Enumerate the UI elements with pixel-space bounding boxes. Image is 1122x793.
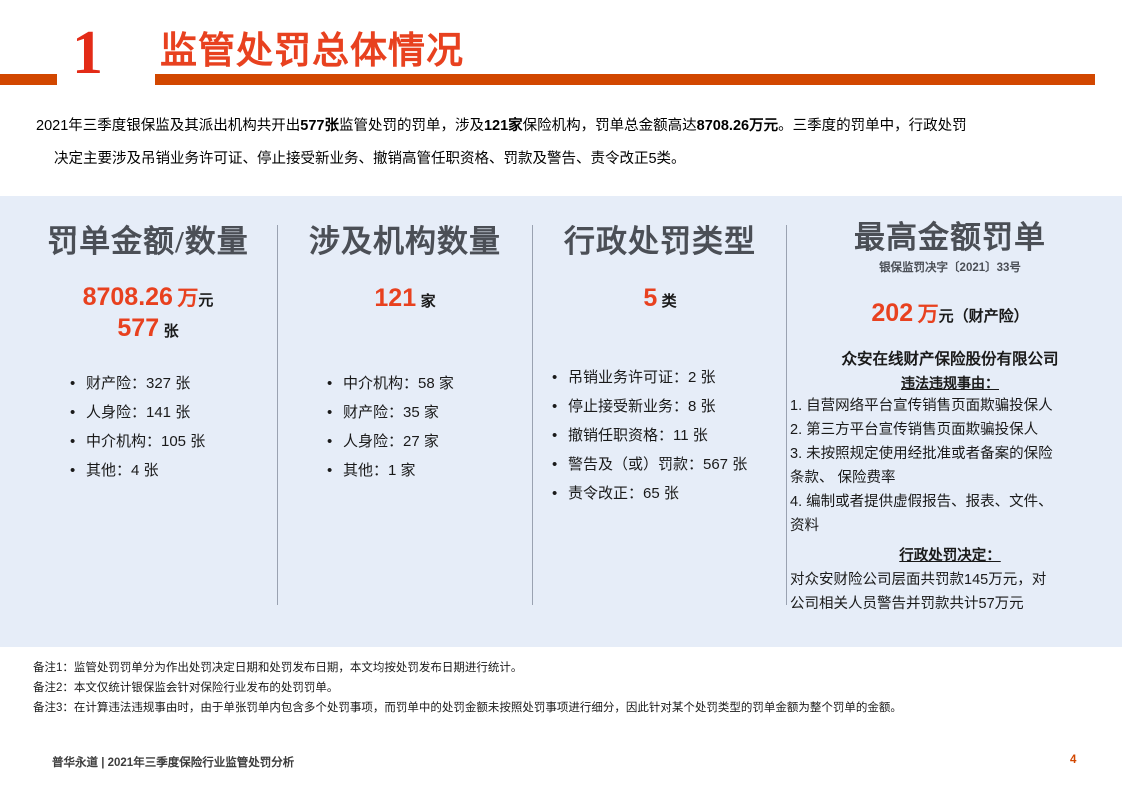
column-penalty-types: 行政处罚类型 5 类 吊销业务许可证：2 张 停止接受新业务：8 张 撤销任职资…	[536, 196, 784, 508]
stat-primary-unit-suffix: 家	[421, 293, 436, 310]
violation-item: 4. 编制或者提供虚假报告、报表、文件、	[790, 490, 1106, 514]
stat-primary-value: 202	[871, 299, 913, 327]
list-item: 吊销业务许可证：2 张	[550, 363, 784, 392]
stat-primary-unit-suffix: 元	[198, 292, 213, 309]
column-title: 行政处罚类型	[536, 224, 784, 260]
bullet-list: 财产险：327 张 人身险：141 张 中介机构：105 张 其他：4 张	[68, 369, 274, 485]
section-number: 1	[72, 22, 103, 84]
intro-seg-c: 监管处罚的罚单，涉及	[339, 118, 484, 134]
violations-list: 1. 自营网络平台宣传销售页面欺骗投保人 2. 第三方平台宣传销售页面欺骗投保人…	[790, 394, 1110, 538]
footnote-2: 备注2：本文仅统计银保监会针对保险行业发布的处罚罚单。	[33, 678, 1093, 698]
column-title: 最高金额罚单	[790, 220, 1110, 256]
list-item: 警告及（或）罚款：567 张	[550, 450, 784, 479]
stat-primary: 121 家	[281, 284, 529, 313]
violation-item: 3. 未按照规定使用经批准或者备案的保险	[790, 442, 1106, 466]
stat-primary: 8708.26 万元	[22, 282, 274, 312]
stat-primary: 5 类	[536, 284, 784, 313]
list-item: 其他：4 张	[68, 456, 274, 485]
column-fine-amount-count: 罚单金额/数量 8708.26 万元 577 张 财产险：327 张 人身险：1…	[22, 196, 274, 485]
list-item: 财产险：35 家	[325, 398, 529, 427]
decision-line: 公司相关人员警告并罚款共计57万元	[790, 592, 1110, 616]
stat-primary-unit-suffix: 类	[662, 293, 677, 310]
violation-item: 2. 第三方平台宣传销售页面欺骗投保人	[790, 418, 1106, 442]
stat-primary-unit-suffix: 元（财产险）	[939, 308, 1029, 325]
header-rule-right	[155, 74, 1095, 85]
intro-bold-amount: 8708.26万元	[697, 118, 778, 134]
list-item: 财产险：327 张	[68, 369, 274, 398]
stat-secondary: 577 张	[22, 314, 274, 343]
decision-text: 对众安财险公司层面共罚款145万元，对 公司相关人员警告并罚款共计57万元	[790, 568, 1110, 616]
list-item: 人身险：141 张	[68, 398, 274, 427]
list-item: 人身险：27 家	[325, 427, 529, 456]
column-divider-3	[786, 225, 787, 605]
stat-secondary-value: 577	[117, 314, 159, 342]
decision-heading: 行政处罚决定：	[790, 544, 1110, 568]
decision-line: 对众安财险公司层面共罚款145万元，对	[790, 568, 1110, 592]
column-largest-fine: 最高金额罚单 银保监罚决字〔2021〕33号 202 万元（财产险） 众安在线财…	[790, 196, 1110, 616]
violation-item: 1. 自营网络平台宣传销售页面欺骗投保人	[790, 394, 1106, 418]
stat-primary: 202 万元（财产险）	[790, 298, 1110, 328]
column-title: 罚单金额/数量	[22, 224, 274, 260]
footnotes: 备注1：监管处罚罚单分为作出处罚决定日期和处罚发布日期，本文均按处罚发布日期进行…	[33, 658, 1093, 718]
intro-seg-d: 保险机构，罚单总金额高达	[523, 118, 697, 134]
stat-primary-value: 121	[374, 284, 416, 312]
list-item: 撤销任职资格：11 张	[550, 421, 784, 450]
stat-secondary-unit-suffix: 张	[164, 323, 179, 340]
summary-panel: 罚单金额/数量 8708.26 万元 577 张 财产险：327 张 人身险：1…	[0, 196, 1122, 647]
column-divider-2	[532, 225, 533, 605]
company-name: 众安在线财产保险股份有限公司	[790, 350, 1110, 370]
intro-paragraph: 2021年三季度银保监及其派出机构共开出577张监管处罚的罚单，涉及121家保险…	[36, 110, 1094, 176]
violation-item-cont: 资料	[790, 514, 1106, 538]
list-item: 其他：1 家	[325, 456, 529, 485]
header-rule-left	[0, 74, 57, 85]
list-item: 中介机构：105 张	[68, 427, 274, 456]
intro-bold-121: 121家	[484, 118, 523, 134]
column-divider-1	[277, 225, 278, 605]
violation-item-cont: 条款、 保险费率	[790, 466, 1106, 490]
column-title: 涉及机构数量	[281, 224, 529, 260]
intro-bold-577: 577张	[300, 118, 339, 134]
intro-line-2: 决定主要涉及吊销业务许可证、停止接受新业务、撤销高管任职资格、罚款及警告、责令改…	[36, 143, 1094, 176]
stat-primary-unit-cn: 万	[918, 303, 939, 326]
page-title: 监管处罚总体情况	[160, 30, 464, 74]
stat-primary-value: 8708.26	[83, 283, 173, 311]
footnote-1: 备注1：监管处罚罚单分为作出处罚决定日期和处罚发布日期，本文均按处罚发布日期进行…	[33, 658, 1093, 678]
footer-source: 普华永道 | 2021年三季度保险行业监管处罚分析	[52, 754, 294, 770]
page-header: 1 监管处罚总体情况	[0, 14, 1122, 94]
footnote-3: 备注3：在计算违法违规事由时，由于单张罚单内包含多个处罚事项，而罚单中的处罚金额…	[33, 698, 1093, 718]
page-number: 4	[1070, 754, 1076, 766]
intro-line-1: 2021年三季度银保监及其派出机构共开出577张监管处罚的罚单，涉及121家保险…	[36, 110, 1094, 143]
bullet-list: 吊销业务许可证：2 张 停止接受新业务：8 张 撤销任职资格：11 张 警告及（…	[550, 363, 784, 508]
stat-primary-value: 5	[643, 284, 657, 312]
list-item: 停止接受新业务：8 张	[550, 392, 784, 421]
intro-seg-a: 2021年三季度银保监及其派出机构共开出	[36, 118, 300, 134]
list-item: 中介机构：58 家	[325, 369, 529, 398]
column-institutions-involved: 涉及机构数量 121 家 中介机构：58 家 财产险：35 家 人身险：27 家…	[281, 196, 529, 485]
bullet-list: 中介机构：58 家 财产险：35 家 人身险：27 家 其他：1 家	[325, 369, 529, 485]
violations-heading: 违法违规事由：	[790, 372, 1110, 394]
stat-primary-unit-cn: 万	[177, 287, 198, 310]
list-item: 责令改正：65 张	[550, 479, 784, 508]
intro-seg-e: 。三季度的罚单中，行政处罚	[778, 118, 967, 134]
column-subtitle: 银保监罚决字〔2021〕33号	[790, 260, 1110, 276]
